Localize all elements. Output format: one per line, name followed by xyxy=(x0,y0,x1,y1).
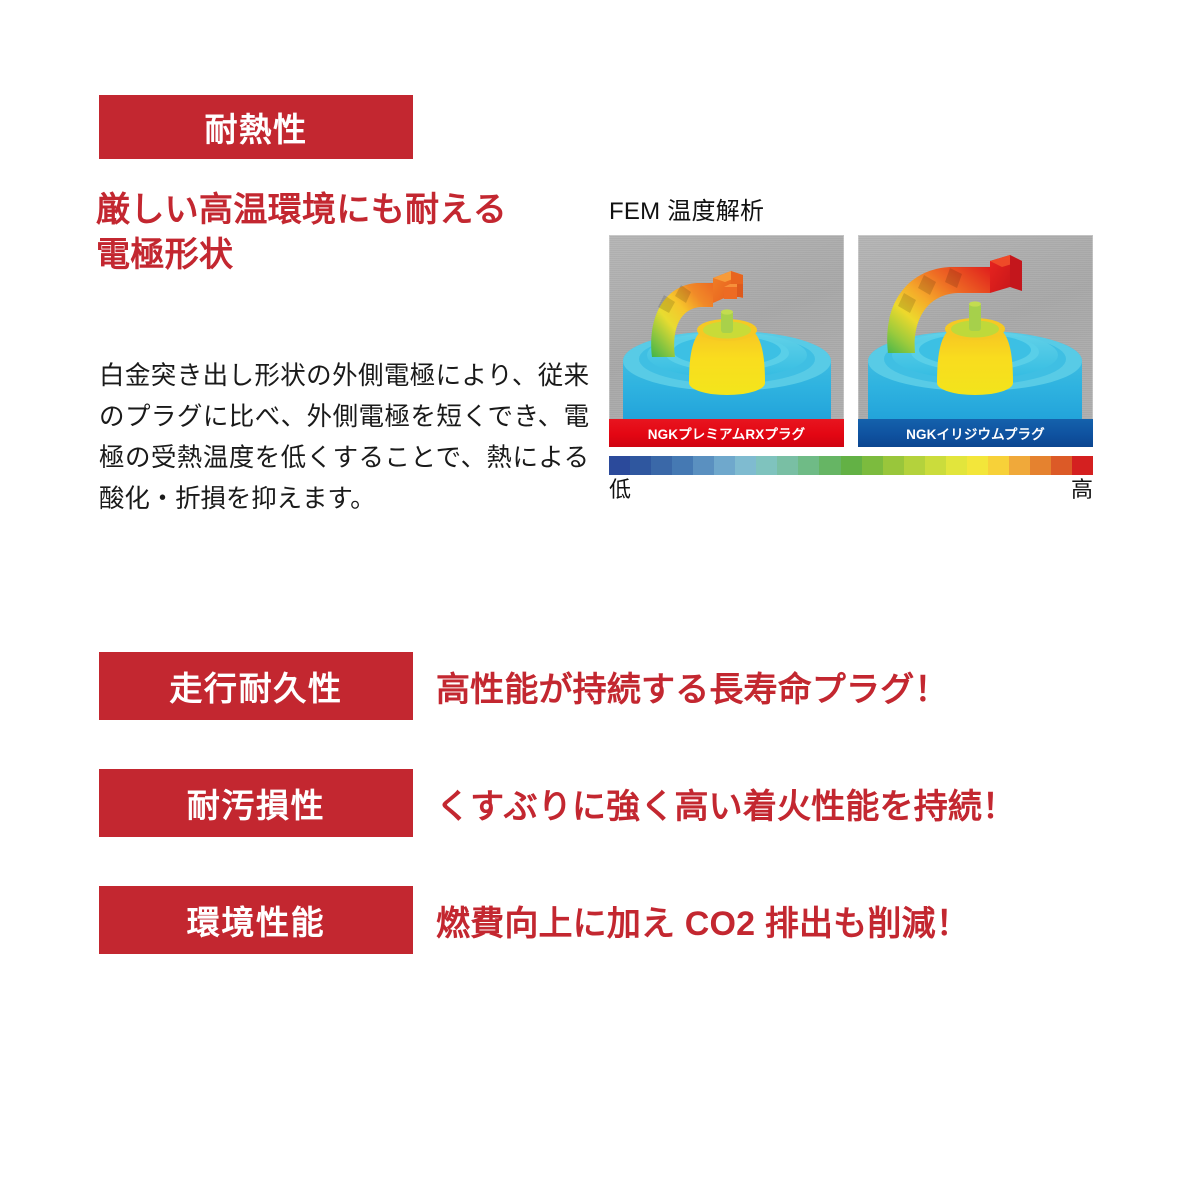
colorbar-band-8 xyxy=(777,456,798,475)
fem-caption-premium-rx: NGKプレミアムRXプラグ xyxy=(609,419,844,447)
colorbar-band-0 xyxy=(609,456,630,475)
fem-title: FEM 温度解析 xyxy=(609,200,1093,224)
feature-row: 走行耐久性 高性能が持続する長寿命プラグ！ xyxy=(99,652,1079,720)
spark-plug-thermal-render-iridium xyxy=(858,235,1093,447)
temperature-colorbar xyxy=(609,456,1093,475)
colorbar-band-5 xyxy=(714,456,735,475)
colorbar-band-16 xyxy=(946,456,967,475)
fem-analysis-block: FEM 温度解析 xyxy=(609,200,1093,502)
feature-text-fouling-resistance: くすぶりに強く高い着火性能を持続！ xyxy=(436,779,1016,828)
feature-text-environmental-performance: 燃費向上に加え CO2 排出も削減！ xyxy=(436,896,970,945)
colorbar-band-15 xyxy=(925,456,946,475)
colorbar-band-18 xyxy=(988,456,1009,475)
colorbar-band-2 xyxy=(651,456,672,475)
feature-row: 環境性能 燃費向上に加え CO2 排出も削減！ xyxy=(99,886,1079,954)
page-root: 耐熱性 厳しい高温環境にも耐える 電極形状 白金突き出し形状の外側電極により、従… xyxy=(0,0,1200,1200)
spark-plug-thermal-render-rx xyxy=(609,235,844,447)
fem-panel-iridium: NGKイリジウムプラグ xyxy=(858,235,1093,447)
fem-caption-iridium: NGKイリジウムプラグ xyxy=(858,419,1093,447)
badge-heat-resistance: 耐熱性 xyxy=(99,95,413,159)
page-title: 厳しい高温環境にも耐える 電極形状 xyxy=(96,188,616,278)
fem-panel-list: NGKプレミアムRXプラグ xyxy=(609,235,1093,447)
badge-fouling-resistance: 耐汚損性 xyxy=(99,769,413,837)
colorbar-band-9 xyxy=(798,456,819,475)
temperature-scale-labels: 低 高 xyxy=(609,477,1093,502)
temperature-scale: 低 高 xyxy=(609,456,1093,502)
body-paragraph: 白金突き出し形状の外側電極により、従来のプラグに比べ、外側電極を短くでき、電極の… xyxy=(99,356,589,521)
feature-row: 耐汚損性 くすぶりに強く高い着火性能を持続！ xyxy=(99,769,1079,837)
colorbar-band-1 xyxy=(630,456,651,475)
scale-low-label: 低 xyxy=(609,477,631,502)
colorbar-band-10 xyxy=(819,456,840,475)
colorbar-band-3 xyxy=(672,456,693,475)
fem-panel-premium-rx: NGKプレミアムRXプラグ xyxy=(609,235,844,447)
colorbar-band-19 xyxy=(1009,456,1030,475)
badge-environmental-performance: 環境性能 xyxy=(99,886,413,954)
colorbar-band-14 xyxy=(904,456,925,475)
colorbar-band-7 xyxy=(756,456,777,475)
badge-driving-durability: 走行耐久性 xyxy=(99,652,413,720)
colorbar-band-12 xyxy=(862,456,883,475)
colorbar-band-20 xyxy=(1030,456,1051,475)
colorbar-band-13 xyxy=(883,456,904,475)
colorbar-band-11 xyxy=(841,456,862,475)
colorbar-band-17 xyxy=(967,456,988,475)
colorbar-band-6 xyxy=(735,456,756,475)
colorbar-band-21 xyxy=(1051,456,1072,475)
scale-high-label: 高 xyxy=(1071,477,1093,502)
page-title-line-2: 電極形状 xyxy=(96,233,616,278)
colorbar-band-22 xyxy=(1072,456,1093,475)
feature-text-driving-durability: 高性能が持続する長寿命プラグ！ xyxy=(436,662,949,711)
colorbar-band-4 xyxy=(693,456,714,475)
page-title-line-1: 厳しい高温環境にも耐える xyxy=(96,188,616,233)
